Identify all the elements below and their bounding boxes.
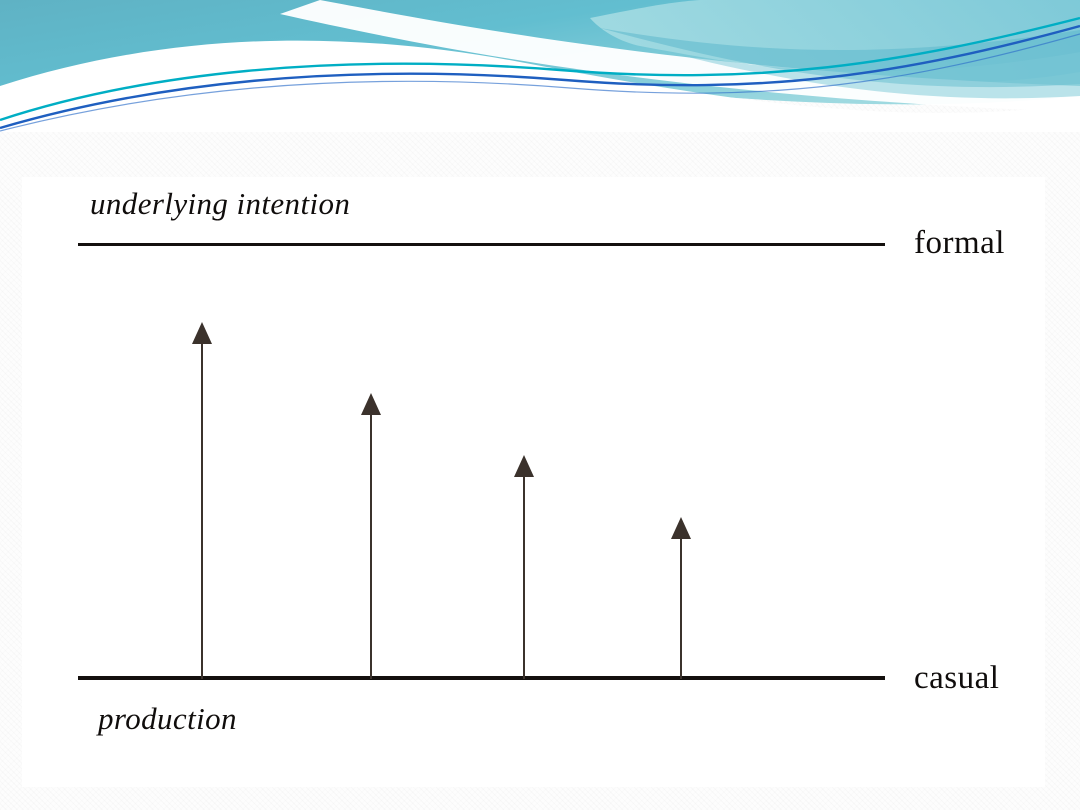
arrow-bar-4	[671, 517, 691, 679]
arrow-stem	[370, 410, 372, 679]
figure-label-production: production	[98, 703, 237, 734]
figure-diagram: underlying intention production formal c…	[22, 177, 1045, 787]
arrow-bar-2	[361, 393, 381, 679]
figure-image-panel: underlying intention production formal c…	[22, 177, 1045, 787]
wave-graphic	[0, 0, 1080, 132]
arrow-stem	[523, 472, 525, 679]
presentation-slide: underlying intention production formal c…	[0, 0, 1080, 810]
figure-label-formal: formal	[914, 227, 1005, 260]
arrow-stem	[680, 534, 682, 679]
figure-label-underlying-intention: underlying intention	[90, 188, 350, 219]
arrow-bar-1	[192, 322, 212, 679]
figure-label-casual: casual	[914, 662, 999, 695]
arrow-stem	[201, 339, 203, 679]
arrow-bar-3	[514, 455, 534, 679]
formal-rule-line	[78, 243, 885, 246]
decorative-wave-banner	[0, 0, 1080, 132]
